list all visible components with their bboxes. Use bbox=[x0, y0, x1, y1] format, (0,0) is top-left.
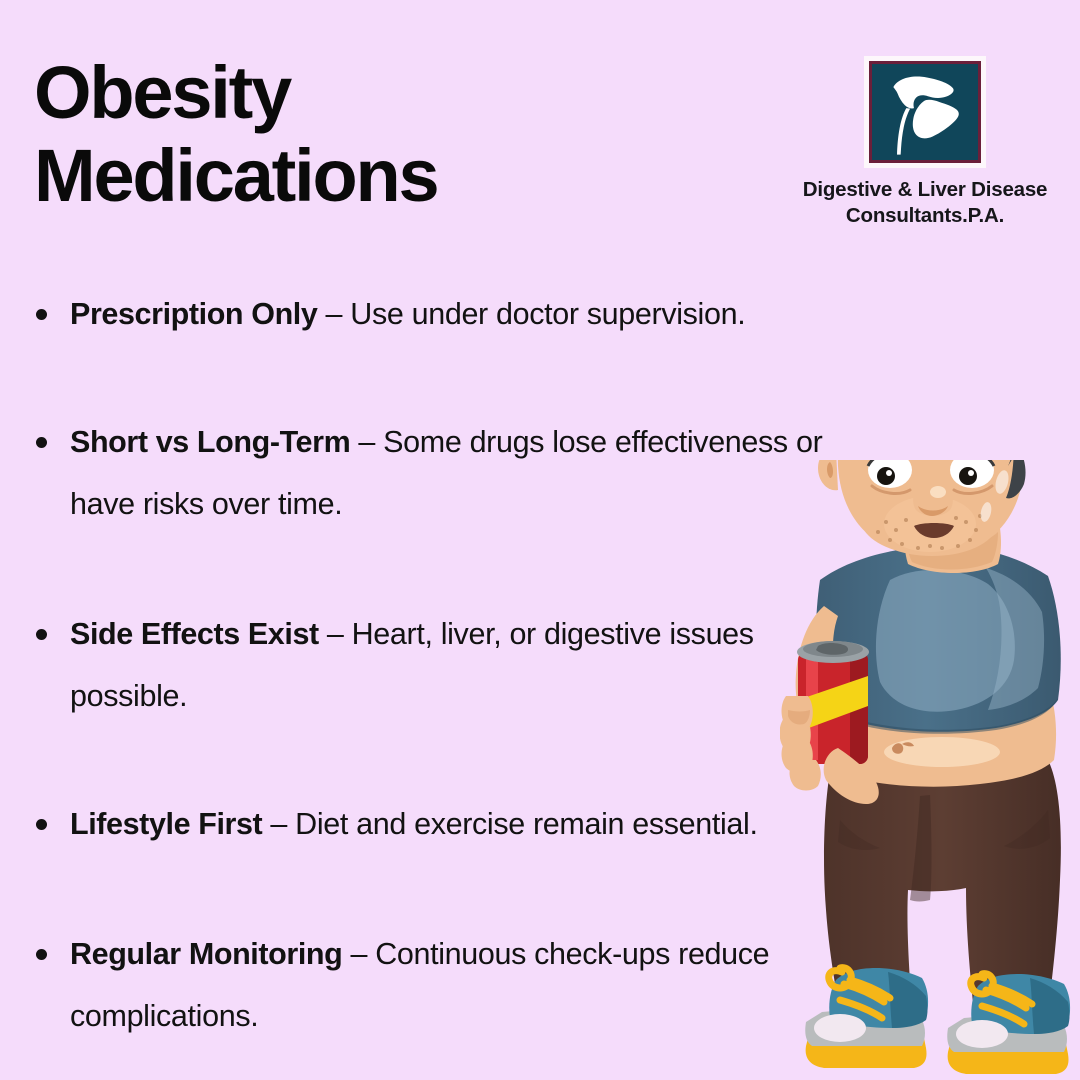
brand-name-line-2: Consultants.P.A. bbox=[795, 203, 1055, 229]
brand-name: Digestive & Liver Disease Consultants.P.… bbox=[795, 177, 1055, 228]
list-item-text: – Use under doctor supervision. bbox=[317, 297, 745, 331]
brand-logo: Digestive & Liver Disease Consultants.P.… bbox=[795, 56, 1055, 228]
right-shoe bbox=[947, 974, 1070, 1074]
list-item-text: – Diet and exercise remain essential. bbox=[262, 807, 757, 841]
logo-mark-frame bbox=[864, 56, 986, 168]
poster-canvas: Obesity Medications Digestive & Liver Di… bbox=[0, 0, 1080, 1080]
list-item-lead: Lifestyle First bbox=[70, 807, 262, 841]
bullet-dot-icon bbox=[36, 629, 47, 640]
bullet-dot-icon bbox=[36, 819, 47, 830]
brand-name-line-1: Digestive & Liver Disease bbox=[795, 177, 1055, 203]
list-item: Lifestyle First – Diet and exercise rema… bbox=[18, 793, 848, 855]
list-item: Regular Monitoring – Continuous check-up… bbox=[18, 923, 848, 1047]
bullet-dot-icon bbox=[36, 309, 47, 320]
list-item: Short vs Long-Term – Some drugs lose eff… bbox=[18, 411, 848, 535]
page-title: Obesity Medications bbox=[34, 52, 654, 218]
logo-mark-border bbox=[869, 61, 981, 163]
list-item: Side Effects Exist – Heart, liver, or di… bbox=[18, 603, 848, 727]
page-title-line-1: Obesity bbox=[34, 52, 654, 135]
list-item-lead: Side Effects Exist bbox=[70, 617, 319, 651]
list-item-lead: Regular Monitoring bbox=[70, 937, 342, 971]
key-points-list: Prescription Only – Use under doctor sup… bbox=[18, 283, 848, 1047]
bullet-dot-icon bbox=[36, 437, 47, 448]
bullet-dot-icon bbox=[36, 949, 47, 960]
list-item-lead: Short vs Long-Term bbox=[70, 425, 350, 459]
liver-organ-logo-icon bbox=[874, 66, 976, 158]
list-item-lead: Prescription Only bbox=[70, 297, 317, 331]
list-item: Prescription Only – Use under doctor sup… bbox=[18, 283, 848, 345]
page-title-line-2: Medications bbox=[34, 135, 654, 218]
